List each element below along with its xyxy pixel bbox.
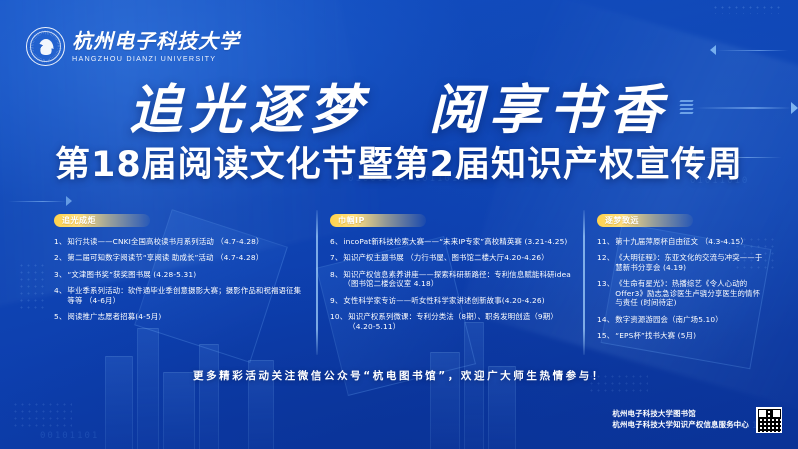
item-number: 7、 (330, 253, 342, 262)
binary-text-4: 00101101 (40, 431, 99, 441)
item-text: 知行共读——CNKI全国高校读书月系列活动 （4.7-4.28） (67, 237, 306, 246)
arrow-line-left (8, 196, 72, 206)
university-name-en: HANGZHOU DIANZI UNIVERSITY (72, 54, 240, 63)
item-number: 10、 (330, 312, 347, 331)
item-number: 5、 (54, 312, 66, 321)
item-number: 1、 (54, 237, 66, 246)
organizer-line-1: 杭州电子科技大学图书馆 (612, 409, 749, 420)
list-item: 4、 毕业季系列活动：软件通毕业季创意摄影大赛；摄影作品和祝福语征集等等 （4-… (54, 286, 306, 305)
column-divider-2 (583, 210, 585, 355)
item-number: 3、 (54, 270, 66, 279)
item-text: 知识产权主题书展 （力行书屋、图书馆二楼大厅4.20-4.26） (343, 253, 573, 262)
item-number: 2、 (54, 253, 66, 262)
item-text: 知识产权系列微课：专利分类法（8期）、职务发明创造（9期）（4.20-5.11） (348, 312, 573, 331)
list-item: 7、 知识产权主题书展 （力行书屋、图书馆二楼大厅4.20-4.26） (330, 253, 573, 262)
item-number: 8、 (330, 270, 342, 289)
item-text: 阅读推广志愿者招募(4-5月) (67, 312, 306, 321)
item-text: 第二届可知数字阅读节“享阅读 助成长”活动 （4.7-4.28） (67, 253, 306, 262)
activity-columns: 追光成炬 1、 知行共读——CNKI全国高校读书月系列活动 （4.7-4.28）… (54, 210, 776, 358)
arrow-line-top-right (710, 45, 788, 55)
item-text: 知识产权信息素养讲座——探索科研新路径：专利信息赋能科研idea（图书馆二楼会议… (343, 270, 573, 289)
list-item: 1、 知行共读——CNKI全国高校读书月系列活动 （4.7-4.28） (54, 237, 306, 246)
item-text: 数字资源游园会（南广场5.10） (615, 315, 766, 324)
item-number: 9、 (330, 296, 342, 305)
item-number: 4、 (54, 286, 66, 305)
activity-list-3: 11、 第十九届萍原杯自由征文 （4.3-4.15） 12、 《大明征程》：东亚… (597, 237, 766, 341)
list-item: 12、 《大明征程》：东亚文化的交流与冲突——于慧新书分享会 (4.19) (597, 253, 766, 272)
city-bar-3 (163, 372, 195, 449)
list-item: 5、 阅读推广志愿者招募(4-5月) (54, 312, 306, 321)
column-badge-2: 巾帼IP (330, 214, 426, 227)
page-title: 追光逐梦 阅享书香 (0, 84, 798, 137)
item-text: 女性科学家专访——听女性科学家讲述创新故事(4.20-4.26) (343, 296, 573, 305)
list-item: 13、 《生命有星光》：热播综艺《令人心动的Offer3》励志急诊医生卢骁分享医… (597, 279, 766, 307)
dot-grid-bottom-left (12, 401, 72, 427)
footer-callout: 更多精彩活动关注微信公众号“杭电图书馆”，欢迎广大师生热情参与！ (0, 368, 798, 383)
city-bar-4 (199, 344, 219, 449)
list-item: 14、 数字资源游园会（南广场5.10） (597, 315, 766, 324)
city-bar-6 (430, 352, 460, 449)
item-text: 《生命有星光》：热播综艺《令人心动的Offer3》励志急诊医生卢骁分享医生的情怀… (615, 279, 766, 307)
signature-block: 杭州电子科技大学图书馆 杭州电子科技大学知识产权信息服务中心 (612, 407, 782, 433)
list-item: 6、 incoPat新科技检索大赛——“未来IP专家”高校精英赛 (3.21-4… (330, 237, 573, 246)
item-text: 第十九届萍原杯自由征文 （4.3-4.15） (615, 237, 766, 246)
item-number: 12、 (597, 253, 614, 272)
item-number: 14、 (597, 315, 614, 324)
list-item: 11、 第十九届萍原杯自由征文 （4.3-4.15） (597, 237, 766, 246)
column-divider-1 (316, 210, 318, 355)
list-item: 10、 知识产权系列微课：专利分类法（8期）、职务发明创造（9期）（4.20-5… (330, 312, 573, 331)
item-text: incoPat新科技检索大赛——“未来IP专家”高校精英赛 (3.21-4.25… (343, 237, 573, 246)
university-name-cn: 杭州电子科技大学 (72, 31, 240, 52)
qr-code-icon (756, 407, 782, 433)
poster-canvas: 01001101 10110100 01011010 11010011 0010… (0, 0, 798, 449)
list-item: 9、 女性科学家专访——听女性科学家讲述创新故事(4.20-4.26) (330, 296, 573, 305)
activity-list-2: 6、 incoPat新科技检索大赛——“未来IP专家”高校精英赛 (3.21-4… (330, 237, 573, 331)
item-number: 11、 (597, 237, 614, 246)
list-item: 8、 知识产权信息素养讲座——探索科研新路径：专利信息赋能科研idea（图书馆二… (330, 270, 573, 289)
column-group-1: 追光成炬 1、 知行共读——CNKI全国高校读书月系列活动 （4.7-4.28）… (54, 210, 316, 358)
item-text: 《大明征程》：东亚文化的交流与冲突——于慧新书分享会 (4.19) (615, 253, 766, 272)
item-text: “文津图书奖”获奖图书展 (4.28-5.31) (67, 270, 306, 279)
university-logo: 杭州电子科技大学 HANGZHOU DIANZI UNIVERSITY (26, 27, 240, 66)
item-number: 6、 (330, 237, 342, 246)
column-group-3: 逐梦致远 11、 第十九届萍原杯自由征文 （4.3-4.15） 12、 《大明征… (597, 210, 776, 358)
dot-grid-top-right (712, 4, 782, 14)
page-subtitle: 第18届阅读文化节暨第2届知识产权宣传周 (0, 148, 798, 183)
list-item: 15、 “EPS杯”找书大赛 (5月) (597, 331, 766, 340)
activity-list-1: 1、 知行共读——CNKI全国高校读书月系列活动 （4.7-4.28） 2、 第… (54, 237, 306, 322)
university-seal-icon (26, 27, 65, 66)
item-text: 毕业季系列活动：软件通毕业季创意摄影大赛；摄影作品和祝福语征集等等 （4-6月） (67, 286, 306, 305)
dot-grid-left (18, 262, 44, 312)
column-badge-3: 逐梦致远 (597, 214, 693, 227)
item-number: 15、 (597, 331, 614, 340)
column-group-2: 巾帼IP 6、 incoPat新科技检索大赛——“未来IP专家”高校精英赛 (3… (330, 210, 583, 358)
list-item: 2、 第二届可知数字阅读节“享阅读 助成长”活动 （4.7-4.28） (54, 253, 306, 262)
column-badge-1: 追光成炬 (54, 214, 150, 227)
list-item: 3、 “文津图书奖”获奖图书展 (4.28-5.31) (54, 270, 306, 279)
organizer-line-2: 杭州电子科技大学知识产权信息服务中心 (612, 420, 749, 431)
item-text: “EPS杯”找书大赛 (5月) (615, 331, 766, 340)
item-number: 13、 (597, 279, 614, 307)
